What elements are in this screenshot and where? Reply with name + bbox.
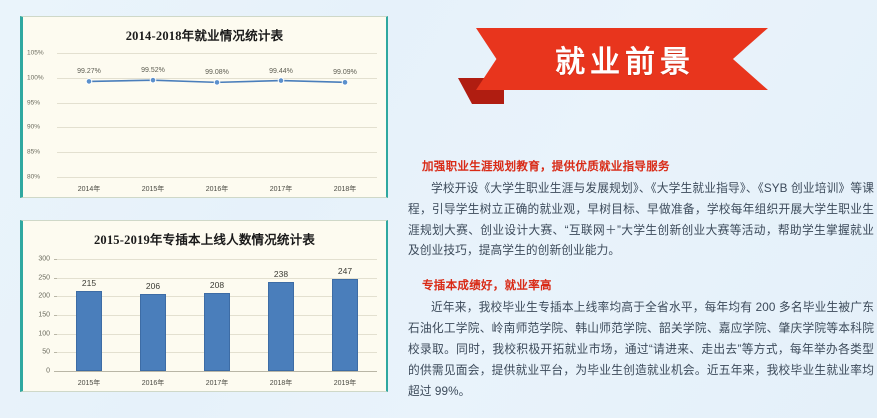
data-point-label: 99.08% (205, 69, 229, 76)
bar (332, 279, 358, 371)
data-point-label: 99.44% (269, 68, 293, 75)
bar (140, 294, 166, 371)
y-axis-tick (54, 334, 57, 335)
line-chart-plot: 105%100%95%90%85%80%99.27%99.52%99.08%99… (23, 45, 386, 197)
section-heading-2: 专插本成绩好，就业率高 (408, 277, 874, 293)
x-axis-label: 2015年 (142, 184, 165, 194)
y-axis-label: 200 (23, 293, 50, 300)
section-block-1: 加强职业生涯规划教育，提供优质就业指导服务 学校开设《大学生职业生涯与发展规划》… (408, 158, 874, 262)
x-axis-line (57, 371, 377, 372)
bar-value-label: 247 (338, 266, 352, 276)
y-axis-tick (54, 352, 57, 353)
section-banner: 就业前景 (458, 28, 768, 100)
x-axis-label: 2018年 (334, 184, 357, 194)
y-axis-tick (54, 315, 57, 316)
data-point-label: 99.27% (77, 68, 101, 75)
x-axis-label: 2015年 (78, 378, 101, 388)
bar-value-label: 215 (82, 278, 96, 288)
gridline (57, 259, 377, 260)
x-axis-label: 2014年 (78, 184, 101, 194)
bar-chart-title: 2015-2019年专插本上线人数情况统计表 (23, 221, 386, 248)
y-axis-label: 50 (23, 349, 50, 356)
y-axis-tick (54, 259, 57, 260)
bar-chart-plot: 3002502001501005002152015年2062016年208201… (23, 249, 386, 391)
line-chart-card: 2014-2018年就业情况统计表 105%100%95%90%85%80%99… (20, 16, 388, 198)
bar-value-label: 238 (274, 269, 288, 279)
bar (76, 291, 102, 371)
y-axis-label: 250 (23, 274, 50, 281)
content-column: 就业前景 加强职业生涯规划教育，提供优质就业指导服务 学校开设《大学生职业生涯与… (398, 0, 877, 418)
banner-title: 就业前景 (549, 37, 695, 81)
x-axis-label: 2017年 (270, 184, 293, 194)
x-axis-label: 2016年 (142, 378, 165, 388)
gridline (57, 278, 377, 279)
y-axis-label: 300 (23, 256, 50, 263)
bar-value-label: 208 (210, 280, 224, 290)
line-chart-title: 2014-2018年就业情况统计表 (23, 17, 386, 44)
y-axis-label: 150 (23, 312, 50, 319)
y-axis-tick (54, 278, 57, 279)
bar (204, 293, 230, 371)
section-heading-1: 加强职业生涯规划教育，提供优质就业指导服务 (408, 158, 874, 174)
text-content: 加强职业生涯规划教育，提供优质就业指导服务 学校开设《大学生职业生涯与发展规划》… (408, 158, 874, 402)
y-axis-label: 0 (23, 368, 50, 375)
x-axis-label: 2016年 (206, 184, 229, 194)
banner-body: 就业前景 (476, 28, 768, 90)
charts-column: 2014-2018年就业情况统计表 105%100%95%90%85%80%99… (20, 16, 388, 392)
data-point-label: 99.09% (333, 69, 357, 76)
poster-page: 2014-2018年就业情况统计表 105%100%95%90%85%80%99… (0, 0, 877, 418)
x-axis-label: 2018年 (270, 378, 293, 388)
x-axis-label: 2017年 (206, 378, 229, 388)
x-axis-label: 2019年 (334, 378, 357, 388)
bar-chart-card: 2015-2019年专插本上线人数情况统计表 30025020015010050… (20, 220, 388, 392)
section-body-2: 近年来，我校毕业生专插本上线率均高于全省水平，每年均有 200 多名毕业生被广东… (408, 298, 874, 402)
y-axis-label: 100 (23, 330, 50, 337)
bar-value-label: 206 (146, 281, 160, 291)
y-axis-tick (54, 296, 57, 297)
section-block-2: 专插本成绩好，就业率高 近年来，我校毕业生专插本上线率均高于全省水平，每年均有 … (408, 277, 874, 402)
bar (268, 282, 294, 371)
section-body-1: 学校开设《大学生职业生涯与发展规划》、《大学生就业指导》、《SYB 创业培训》等… (408, 179, 874, 262)
data-point-label: 99.52% (141, 67, 165, 74)
